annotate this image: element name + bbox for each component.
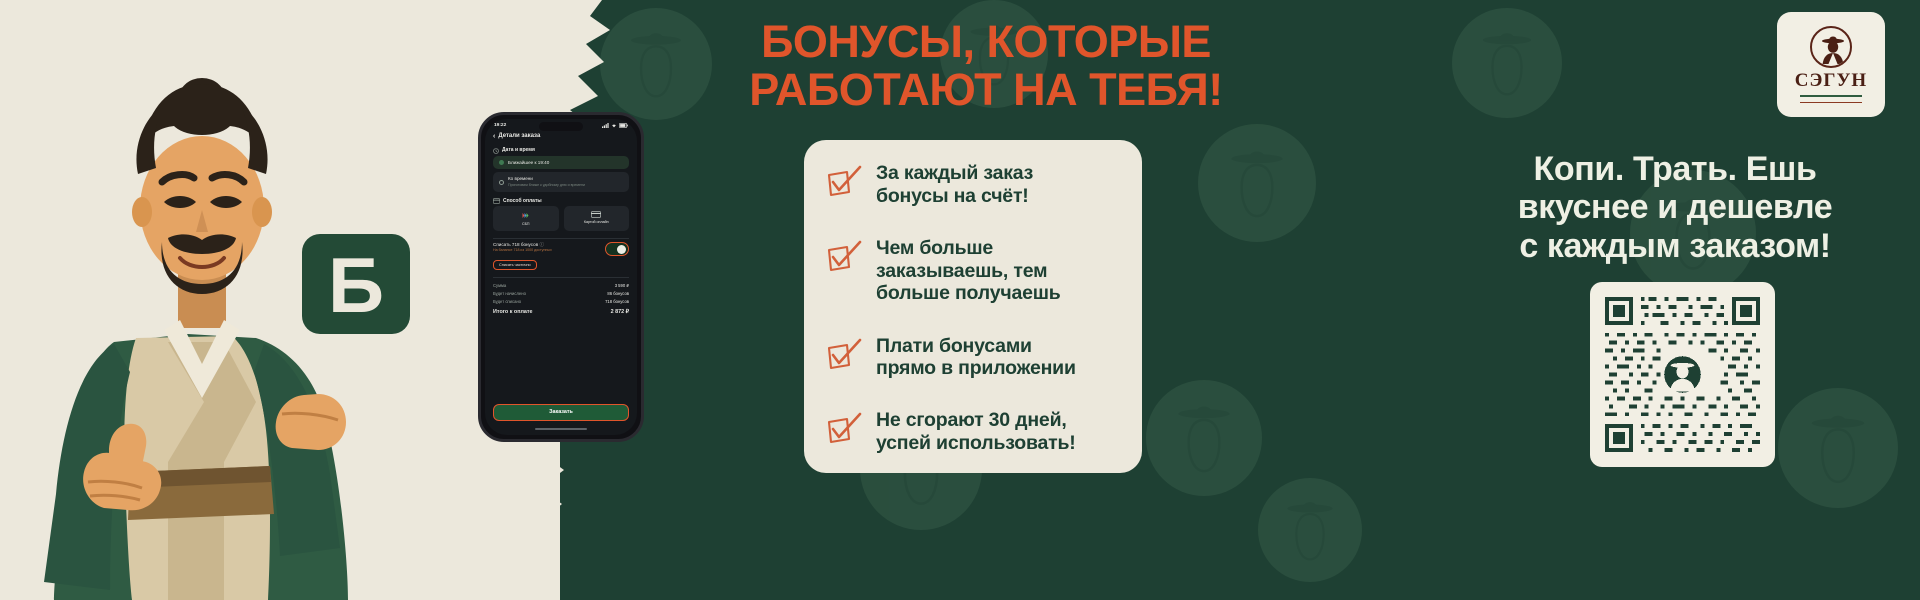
watermark-samurai-10 [1258, 478, 1362, 582]
samurai-silhouette-icon [1475, 26, 1539, 106]
benefit-3-line-2: прямо в приложении [876, 357, 1076, 379]
benefits-card: За каждый заказ бонусы на счёт! Чем боль… [804, 140, 1142, 473]
summary-total-row: Итого к оплате 2 872 ₽ [485, 306, 637, 317]
samurai-silhouette-icon [1803, 408, 1873, 494]
benefit-1-line-1: За каждый заказ [876, 162, 1033, 184]
bonus-sign: Б [300, 232, 412, 352]
watermark-samurai-5 [1198, 124, 1316, 242]
checkbox-check-icon [826, 337, 864, 371]
chevron-left-icon[interactable]: ‹ [493, 133, 495, 140]
samurai-silhouette-icon [1280, 495, 1340, 571]
headline-line-1: БОНУСЫ, КОТОРЫЕ [706, 18, 1266, 66]
screen-title: Детали заказа [498, 133, 540, 141]
payment-methods: СБП Картой онлайн [485, 206, 637, 234]
benefit-item-1: За каждый заказ бонусы на счёт! [826, 162, 1124, 208]
radio-selected-icon [499, 160, 504, 165]
slogan: Копи. Трать. Ешь вкуснее и дешевле с каж… [1440, 150, 1910, 265]
checkbox-check-icon [826, 164, 864, 198]
page-title: БОНУСЫ, КОТОРЫЕ РАБОТАЮТ НА ТЕБЯ! [706, 18, 1266, 114]
benefit-4-line-2: успей использовать! [876, 432, 1076, 454]
divider [493, 277, 629, 278]
delivery-option-scheduled[interactable]: Ко времени Приготовим ближе к удобному д… [493, 172, 629, 191]
payment-method-sbp[interactable]: СБП [493, 206, 559, 230]
bonus-sign-letter: Б [328, 241, 384, 329]
card-icon [493, 198, 500, 204]
brand-logo: СЭГУН [1777, 12, 1885, 117]
partial-redeem-button[interactable]: Списать частично [493, 260, 537, 271]
benefit-1-line-2: бонусы на счёт! [876, 185, 1029, 207]
home-indicator [535, 428, 587, 431]
wifi-icon [611, 123, 617, 128]
slogan-line-2: вкуснее и дешевле [1440, 188, 1910, 226]
phone-notch [539, 122, 583, 131]
slogan-line-3: с каждым заказом! [1440, 227, 1910, 265]
qr-code-image [1601, 293, 1764, 456]
benefit-item-3: Плати бонусами прямо в приложении [826, 335, 1124, 381]
bonus-toggle[interactable] [605, 242, 629, 256]
watermark-samurai-7 [1452, 8, 1562, 118]
benefit-2-line-1: Чем больше [876, 237, 993, 259]
brand-name: СЭГУН [1795, 71, 1867, 90]
benefit-2-line-3: больше получаешь [876, 282, 1061, 304]
benefit-4-line-1: Не сгорают 30 дней, [876, 409, 1067, 431]
app-screen: 19:22 ‹ [485, 119, 637, 435]
radio-icon [499, 180, 504, 185]
qr-code[interactable] [1590, 282, 1775, 467]
summary-row: Будет начислено 86 бонусов [485, 290, 637, 298]
watermark-samurai-9 [1778, 388, 1898, 508]
summary-row: Сумма 3 590 ₽ [485, 281, 637, 289]
logo-divider [1800, 95, 1862, 97]
payment-method-card[interactable]: Картой онлайн [564, 206, 630, 230]
delivery-option-asap[interactable]: Ближайшее к 19:40 [493, 156, 629, 170]
battery-icon [619, 123, 628, 128]
slogan-line-1: Копи. Трать. Ешь [1440, 150, 1910, 188]
logo-divider-accent [1800, 102, 1862, 103]
divider [493, 238, 629, 239]
sbp-icon [521, 211, 530, 220]
datetime-section-title: Дата и время [485, 144, 637, 155]
samurai-medallion-icon [1810, 26, 1852, 68]
phone-mockup: 19:22 ‹ [478, 112, 644, 442]
benefit-2-line-2: заказываешь, тем [876, 260, 1047, 282]
samurai-silhouette-icon [1223, 144, 1291, 228]
clock-icon [493, 148, 499, 154]
samurai-silhouette-icon [1170, 399, 1238, 483]
payment-section-title: Способ оплаты [485, 195, 637, 206]
watermark-samurai-6 [1146, 380, 1262, 496]
status-time: 19:22 [494, 123, 506, 129]
order-button[interactable]: Заказать [493, 404, 629, 421]
info-icon[interactable]: ⓘ [539, 242, 544, 247]
bonus-redeem-row: Списать 718 бонусов ⓘ На балансе 718 из … [493, 242, 629, 256]
nav-bar: ‹ Детали заказа [485, 131, 637, 145]
benefit-3-line-1: Плати бонусами [876, 335, 1032, 357]
headline-line-2: РАБОТАЮТ НА ТЕБЯ! [706, 66, 1266, 114]
checkbox-check-icon [826, 411, 864, 445]
benefit-item-2: Чем больше заказываешь, тем больше получ… [826, 237, 1124, 305]
signal-icon [602, 123, 609, 128]
summary-row: Будет списано 718 бонусов [485, 298, 637, 306]
benefit-item-4: Не сгорают 30 дней, успей использовать! [826, 409, 1124, 455]
checkbox-check-icon [826, 239, 864, 273]
promo-banner: Б 19:22 [0, 0, 1920, 600]
credit-card-icon [591, 211, 601, 218]
